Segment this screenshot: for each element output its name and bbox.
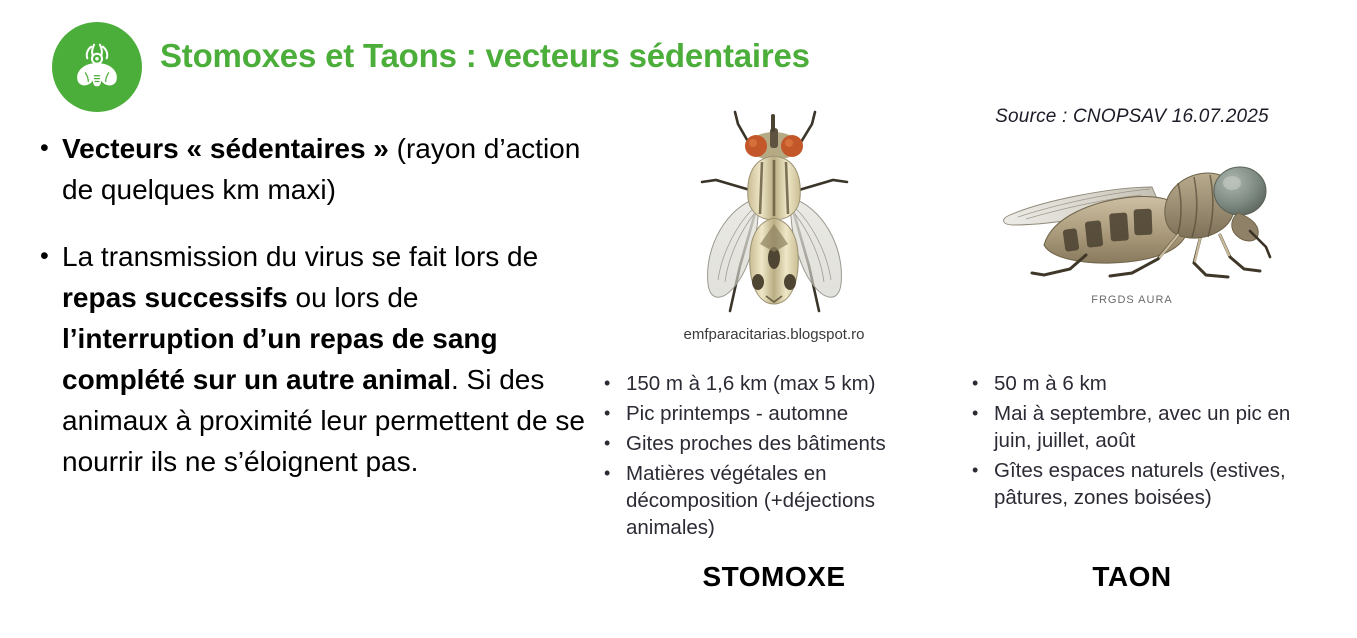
fly-icon (66, 36, 128, 98)
bullet-marker: • (972, 370, 994, 397)
bullet-text: Vecteurs « sédentaires » (rayon d’action… (62, 128, 594, 210)
stomoxe-photo-caption: emfparacitarias.blogspot.ro (596, 326, 952, 343)
source-citation: Source : CNOPSAV 16.07.2025 (962, 106, 1302, 128)
page-title: Stomoxes et Taons : vecteurs sédentaires (160, 37, 810, 75)
bullet-marker: • (34, 128, 62, 168)
bullet-marker: • (972, 457, 994, 484)
stomoxe-label: STOMOXE (596, 561, 952, 593)
list-item-label: Gîtes espaces naturels (estives, pâtures… (994, 457, 1302, 511)
left-text-column: • Vecteurs « sédentaires » (rayon d’acti… (34, 128, 594, 508)
list-item-label: 150 m à 1,6 km (max 5 km) (626, 370, 954, 397)
bullet-bold-segment: l’interruption d’un repas de sang complé… (62, 323, 498, 395)
bullet-marker: • (972, 400, 994, 427)
list-item-label: Gites proches des bâtiments (626, 430, 954, 457)
bullet-marker: • (604, 430, 626, 457)
bullet-item-vecteurs-sedentaires: • Vecteurs « sédentaires » (rayon d’acti… (34, 128, 594, 210)
list-item: • Gites proches des bâtiments (604, 430, 954, 457)
list-item: • Gîtes espaces naturels (estives, pâtur… (972, 457, 1302, 511)
bullet-marker: • (34, 236, 62, 276)
list-item-label: Mai à septembre, avec un pic en juin, ju… (994, 400, 1302, 454)
list-item-label: Matières végétales en décomposition (+dé… (626, 460, 954, 541)
bullet-marker: • (604, 460, 626, 487)
stomoxe-photo (596, 106, 952, 322)
list-item: • 150 m à 1,6 km (max 5 km) (604, 370, 954, 397)
taon-label: TAON (962, 561, 1302, 593)
slide-header: Stomoxes et Taons : vecteurs sédentaires (0, 0, 1357, 110)
bullet-plain-segment: La transmission du virus se fait lors de (62, 241, 538, 272)
logo-badge (52, 22, 142, 112)
bullet-bold-segment: Vecteurs « sédentaires » (62, 133, 389, 164)
bullet-marker: • (604, 370, 626, 397)
list-item: • Pic printemps - automne (604, 400, 954, 427)
taon-fact-list: • 50 m à 6 km • Mai à septembre, avec un… (972, 370, 1302, 514)
list-item-label: 50 m à 6 km (994, 370, 1302, 397)
bullet-plain-segment: ou lors de (288, 282, 419, 313)
stomoxe-fact-list: • 150 m à 1,6 km (max 5 km) • Pic printe… (604, 370, 954, 544)
stomoxe-column: emfparacitarias.blogspot.ro (596, 106, 952, 343)
list-item: • Matières végétales en décomposition (+… (604, 460, 954, 541)
list-item-label: Pic printemps - automne (626, 400, 954, 427)
taon-photo-watermark: FRGDS AURA (962, 294, 1302, 306)
bullet-item-transmission-virus: • La transmission du virus se fait lors … (34, 236, 594, 482)
list-item: • 50 m à 6 km (972, 370, 1302, 397)
bullet-bold-segment: repas successifs (62, 282, 288, 313)
list-item: • Mai à septembre, avec un pic en juin, … (972, 400, 1302, 454)
taon-column: Source : CNOPSAV 16.07.2025 (962, 106, 1302, 306)
bullet-text: La transmission du virus se fait lors de… (62, 236, 594, 482)
taon-photo (962, 136, 1302, 292)
bullet-marker: • (604, 400, 626, 427)
